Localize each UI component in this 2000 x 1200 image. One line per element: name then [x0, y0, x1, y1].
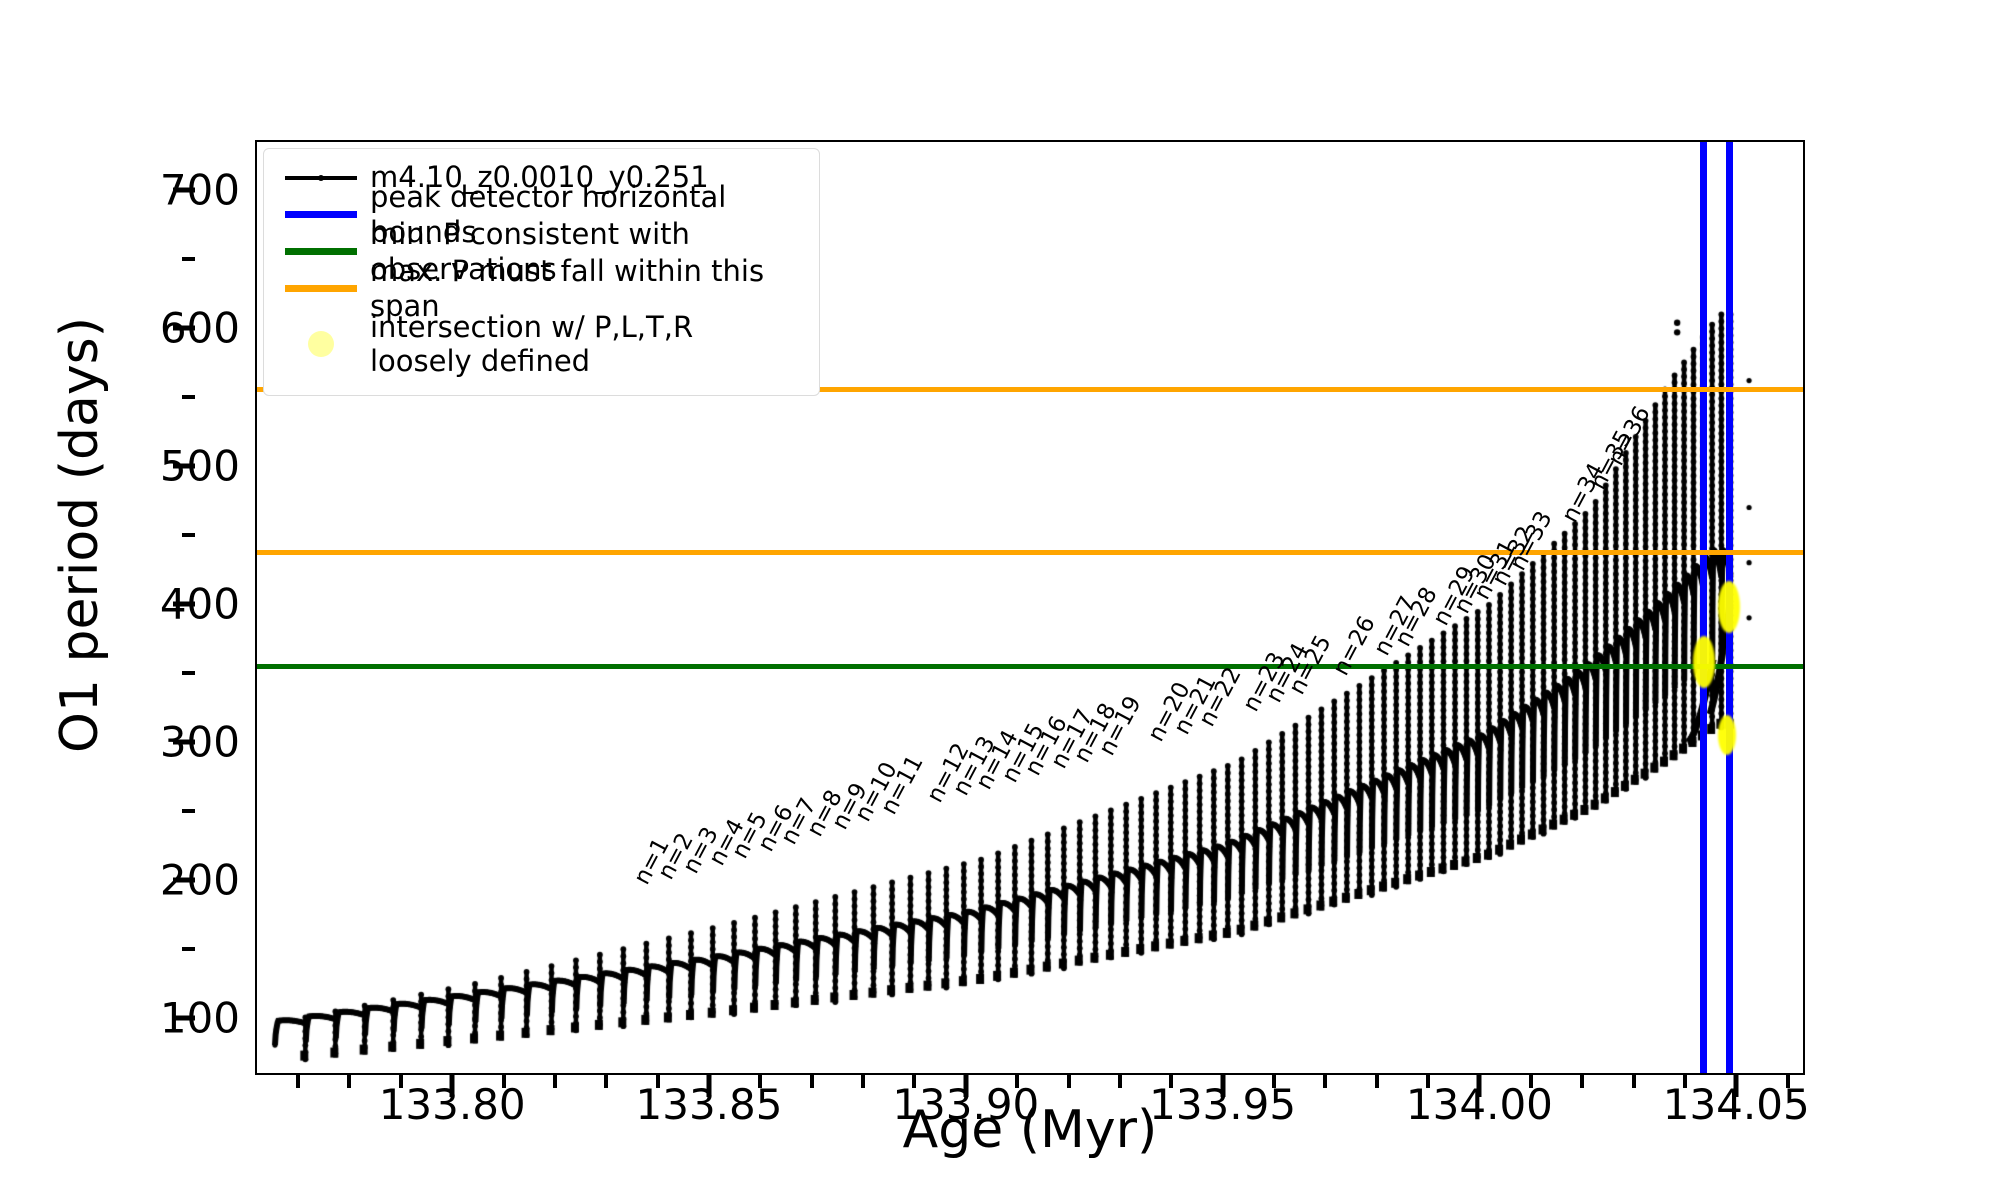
x-tick-minor	[1426, 1075, 1430, 1088]
x-tick-minor	[912, 1075, 916, 1088]
x-tick-minor	[1272, 1075, 1276, 1088]
x-tick-minor	[1786, 1075, 1790, 1088]
legend-entry[interactable]: max. P must fall within this span	[278, 270, 805, 307]
x-tick-minor	[1375, 1075, 1379, 1088]
x-tick-minor	[1632, 1075, 1636, 1088]
intersection-marker	[1693, 636, 1715, 688]
x-tick-minor	[553, 1075, 557, 1088]
legend-line-key	[285, 176, 357, 180]
y-tick-minor	[182, 533, 195, 537]
x-tick-minor	[1169, 1075, 1173, 1088]
y-tick-label: 300	[160, 717, 240, 766]
legend-line-key	[285, 248, 357, 255]
x-tick-minor	[1529, 1075, 1533, 1088]
y-tick-label: 200	[160, 855, 240, 904]
y-tick-label: 700	[160, 166, 240, 215]
y-tick-minor	[182, 671, 195, 675]
x-tick-minor	[1323, 1075, 1327, 1088]
peak-bound-line	[1700, 142, 1707, 1073]
legend-key	[278, 285, 364, 292]
y-tick-minor	[182, 395, 195, 399]
y-tick-label: 500	[160, 442, 240, 491]
x-tick-minor	[347, 1075, 351, 1088]
x-tick-minor	[502, 1075, 506, 1088]
legend-line-key	[285, 285, 357, 292]
x-tick-minor	[758, 1075, 762, 1088]
min-period-line	[257, 664, 1803, 669]
y-tick-label: 600	[160, 304, 240, 353]
y-tick-minor	[182, 809, 195, 813]
legend-marker-key	[278, 331, 364, 357]
x-tick-minor	[1067, 1075, 1071, 1088]
legend[interactable]: m4.10_z0.0010_y0.251peak detector horizo…	[263, 148, 820, 396]
x-tick-minor	[296, 1075, 300, 1088]
y-tick-label: 100	[160, 993, 240, 1042]
y-tick-minor	[182, 257, 195, 261]
y-tick-label: 400	[160, 580, 240, 629]
x-tick-minor	[399, 1075, 403, 1088]
x-tick-minor	[656, 1075, 660, 1088]
chart-figure: O1 period (days) Age (Myr) 1002003004005…	[0, 0, 2000, 1200]
intersection-marker-icon	[308, 331, 334, 357]
x-tick-minor	[604, 1075, 608, 1088]
y-tick-minor	[182, 947, 195, 951]
legend-line-key	[285, 211, 357, 218]
legend-dot-icon	[318, 175, 324, 181]
legend-label: intersection w/ P,L,T,R loosely defined	[364, 310, 693, 378]
x-tick-minor	[810, 1075, 814, 1088]
y-axis-label: O1 period (days)	[50, 155, 110, 915]
x-tick-minor	[1015, 1075, 1019, 1088]
legend-key	[278, 211, 364, 218]
x-tick-minor	[1580, 1075, 1584, 1088]
x-tick-minor	[861, 1075, 865, 1088]
max-period-line	[257, 550, 1803, 555]
x-tick-minor	[1118, 1075, 1122, 1088]
legend-key	[278, 248, 364, 255]
legend-key	[278, 176, 364, 180]
x-tick-minor	[1683, 1075, 1687, 1088]
intersection-marker	[1718, 581, 1740, 633]
